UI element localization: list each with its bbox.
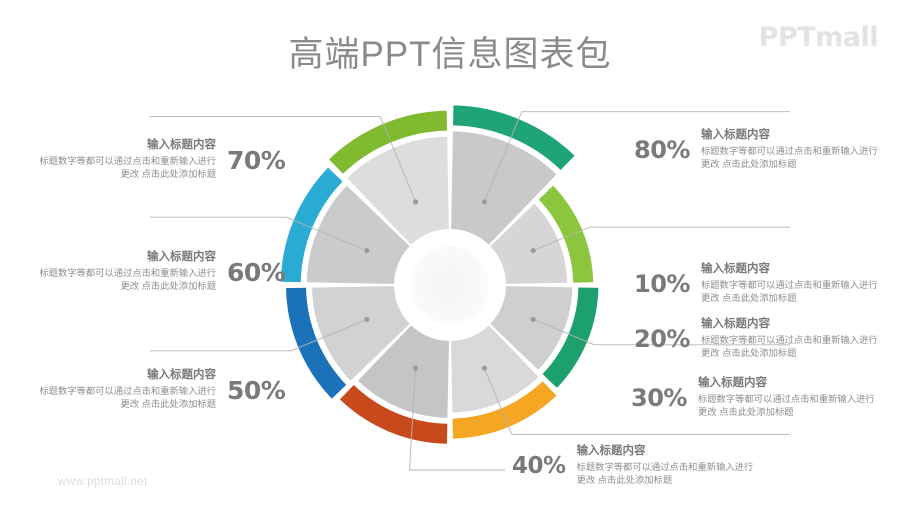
callout-30-body: 标题数字等都可以通过点击和重新输入进行更改 点击此处添加标题 xyxy=(698,393,876,421)
footer-watermark: www.pptmall.net xyxy=(58,476,148,488)
marker-dot xyxy=(413,366,418,371)
callout-20-text: 输入标题内容 标题数字等都可以通过点击和重新输入进行更改 点击此处添加标题 xyxy=(701,317,879,361)
callout-70-percent: 70% xyxy=(227,146,285,175)
callout-40-body: 标题数字等都可以通过点击和重新输入进行更改 点击此处添加标题 xyxy=(577,461,755,489)
center-hub-inner xyxy=(411,246,489,324)
callout-50-body: 标题数字等都可以通过点击和重新输入进行更改 点击此处添加标题 xyxy=(38,385,216,413)
marker-dot xyxy=(531,248,536,253)
callout-30-percent: 30% xyxy=(631,384,687,412)
callout-50[interactable]: 输入标题内容 标题数字等都可以通过点击和重新输入进行更改 点击此处添加标题 50… xyxy=(38,368,285,412)
callout-30-title: 输入标题内容 xyxy=(698,376,876,392)
callout-20-percent: 20% xyxy=(634,325,690,353)
callout-10-body: 标题数字等都可以通过点击和重新输入进行更改 点击此处添加标题 xyxy=(701,279,879,307)
callout-40-percent: 40% xyxy=(512,453,566,479)
callout-10[interactable]: 10% 输入标题内容 标题数字等都可以通过点击和重新输入进行更改 点击此处添加标… xyxy=(634,262,879,306)
callout-70-text: 输入标题内容 标题数字等都可以通过点击和重新输入进行更改 点击此处添加标题 xyxy=(38,138,216,182)
callout-80-title: 输入标题内容 xyxy=(701,128,879,144)
callout-70-body: 标题数字等都可以通过点击和重新输入进行更改 点击此处添加标题 xyxy=(38,155,216,183)
callout-50-percent: 50% xyxy=(227,376,285,405)
callout-60-title: 输入标题内容 xyxy=(38,250,216,266)
marker-dot xyxy=(364,248,369,253)
callout-70-title: 输入标题内容 xyxy=(38,138,216,154)
callout-20-body: 标题数字等都可以通过点击和重新输入进行更改 点击此处添加标题 xyxy=(701,334,879,362)
callout-60-body: 标题数字等都可以通过点击和重新输入进行更改 点击此处添加标题 xyxy=(38,267,216,295)
callout-60-percent: 60% xyxy=(227,258,285,287)
callout-10-text: 输入标题内容 标题数字等都可以通过点击和重新输入进行更改 点击此处添加标题 xyxy=(701,262,879,306)
marker-dot xyxy=(482,199,487,204)
callout-20[interactable]: 20% 输入标题内容 标题数字等都可以通过点击和重新输入进行更改 点击此处添加标… xyxy=(634,317,879,361)
callout-50-title: 输入标题内容 xyxy=(38,368,216,384)
marker-dot xyxy=(482,366,487,371)
callout-10-title: 输入标题内容 xyxy=(701,262,879,278)
callout-60[interactable]: 输入标题内容 标题数字等都可以通过点击和重新输入进行更改 点击此处添加标题 60… xyxy=(38,250,285,294)
callout-80[interactable]: 80% 输入标题内容 标题数字等都可以通过点击和重新输入进行更改 点击此处添加标… xyxy=(634,128,879,172)
marker-dot xyxy=(531,317,536,322)
callout-40-title: 输入标题内容 xyxy=(577,444,755,460)
callout-40-text: 输入标题内容 标题数字等都可以通过点击和重新输入进行更改 点击此处添加标题 xyxy=(577,444,755,488)
callout-30-text: 输入标题内容 标题数字等都可以通过点击和重新输入进行更改 点击此处添加标题 xyxy=(698,376,876,420)
callout-20-title: 输入标题内容 xyxy=(701,317,879,333)
callout-50-text: 输入标题内容 标题数字等都可以通过点击和重新输入进行更改 点击此处添加标题 xyxy=(38,368,216,412)
callout-80-text: 输入标题内容 标题数字等都可以通过点击和重新输入进行更改 点击此处添加标题 xyxy=(701,128,879,172)
marker-dot xyxy=(364,317,369,322)
marker-dot xyxy=(413,199,418,204)
callout-40[interactable]: 40% 输入标题内容 标题数字等都可以通过点击和重新输入进行更改 点击此处添加标… xyxy=(512,444,755,488)
callout-80-body: 标题数字等都可以通过点击和重新输入进行更改 点击此处添加标题 xyxy=(701,145,879,173)
callout-80-percent: 80% xyxy=(634,136,690,164)
callout-60-text: 输入标题内容 标题数字等都可以通过点击和重新输入进行更改 点击此处添加标题 xyxy=(38,250,216,294)
callout-70[interactable]: 输入标题内容 标题数字等都可以通过点击和重新输入进行更改 点击此处添加标题 70… xyxy=(38,138,285,182)
callout-10-percent: 10% xyxy=(634,270,690,298)
callout-30[interactable]: 30% 输入标题内容 标题数字等都可以通过点击和重新输入进行更改 点击此处添加标… xyxy=(631,376,876,420)
